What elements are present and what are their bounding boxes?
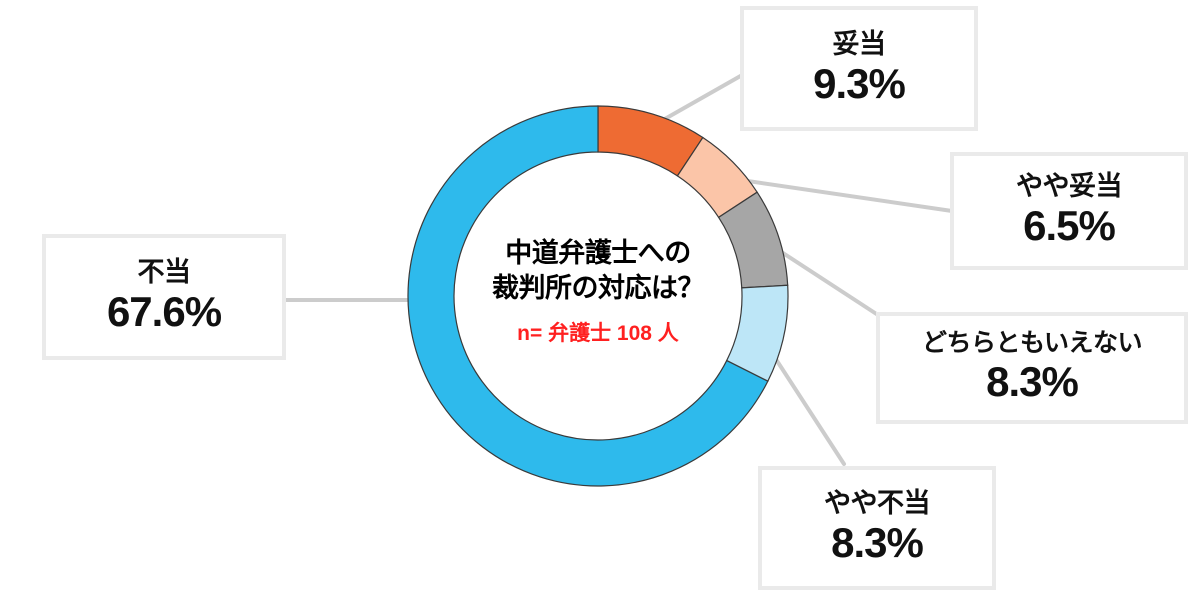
callout-value: 67.6% <box>107 290 221 334</box>
callout-label: やや妥当 <box>1016 173 1122 200</box>
callout-label: どちらともいえない <box>922 331 1142 356</box>
donut-slices <box>408 106 788 486</box>
callout-label: 不当 <box>138 259 191 286</box>
callout-box-yaya-futou: やや不当 8.3% <box>758 466 996 590</box>
callout-box-dochiratomo-ienai: どちらともいえない 8.3% <box>876 312 1188 424</box>
callout-value: 8.3% <box>831 521 923 565</box>
callout-value: 8.3% <box>986 360 1078 404</box>
callout-value: 6.5% <box>1023 204 1115 248</box>
leader-line-1 <box>741 180 952 211</box>
leader-line-0 <box>663 74 744 120</box>
callout-box-yaya-datou: やや妥当 6.5% <box>950 152 1188 270</box>
callout-value: 9.3% <box>813 62 905 106</box>
callout-box-futou: 不当 67.6% <box>42 234 286 360</box>
callout-label: やや不当 <box>824 490 930 517</box>
leader-line-3 <box>768 347 844 464</box>
callout-label: 妥当 <box>833 31 886 58</box>
donut-chart: 中道弁護士への 裁判所の対応は？ n= 弁護士 108 人 妥当 9.3% やや… <box>0 0 1200 600</box>
callout-box-datou: 妥当 9.3% <box>740 6 978 131</box>
